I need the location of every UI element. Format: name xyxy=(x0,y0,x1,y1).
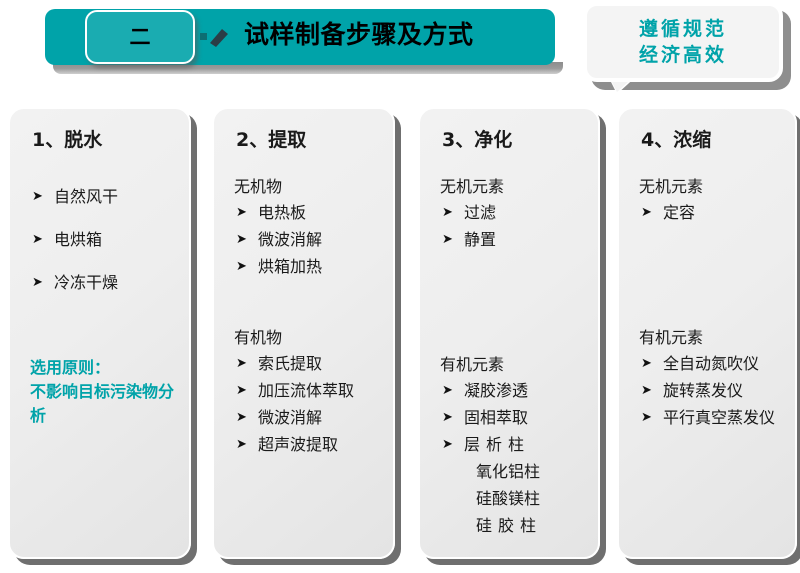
step-card-concentration[interactable]: 4、浓缩 无机元素 ➤定容 有机元素 ➤全自动氮吹仪 ➤旋转蒸发仪 ➤平行真空蒸… xyxy=(617,107,797,559)
item-list: ➤凝胶渗透 ➤固相萃取 ➤层析柱 氧化铝柱 硅酸镁柱 硅胶柱 xyxy=(440,377,588,539)
list-item[interactable]: ➤固相萃取 xyxy=(440,404,588,431)
group-heading: 有机元素 xyxy=(440,353,588,377)
section-number: 二 xyxy=(130,27,151,48)
selection-principle-note: 选用原则： 不影响目标污染物分 析 xyxy=(30,356,179,428)
card-group-inorganic: 无机元素 ➤过滤 ➤静置 xyxy=(440,175,588,253)
arrow-bullet-icon: ➤ xyxy=(236,431,247,458)
badge-line-1: 遵循规范 xyxy=(639,16,727,42)
group-heading: 有机元素 xyxy=(639,326,785,350)
card-group: ➤自然风干 ➤电烘箱 ➤冷冻干燥 xyxy=(30,183,179,296)
group-heading: 有机物 xyxy=(234,326,383,350)
page-title: 试样制备步骤及方式 xyxy=(244,18,544,52)
badge-body: 遵循规范 经济高效 xyxy=(583,2,783,82)
list-subitem-label: 氧化铝柱 xyxy=(476,462,540,481)
list-item[interactable]: ➤加压流体萃取 xyxy=(234,377,383,404)
arrow-bullet-icon: ➤ xyxy=(442,404,453,431)
step-card-dehydration[interactable]: 1、脱水 ➤自然风干 ➤电烘箱 ➤冷冻干燥 选用原则： 不影响目标污染物分 析 xyxy=(8,107,191,559)
list-subitem-label: 硅酸镁柱 xyxy=(476,489,540,508)
step-card-extraction[interactable]: 2、提取 无机物 ➤电热板 ➤微波消解 ➤烘箱加热 有机物 ➤索氏提取 ➤加压流… xyxy=(212,107,395,559)
note-line-1: 选用原则： xyxy=(30,356,179,380)
card-title: 3、净化 xyxy=(442,127,588,153)
list-item[interactable]: ➤旋转蒸发仪 xyxy=(639,377,785,404)
group-heading: 无机元素 xyxy=(440,175,588,199)
list-item-label: 凝胶渗透 xyxy=(464,381,528,400)
item-list: ➤全自动氮吹仪 ➤旋转蒸发仪 ➤平行真空蒸发仪 xyxy=(639,350,785,431)
item-list: ➤过滤 ➤静置 xyxy=(440,199,588,253)
slide-header: 二 试样制备步骤及方式 遵循规范 经济高效 xyxy=(0,0,800,96)
arrow-bullet-icon: ➤ xyxy=(236,199,247,226)
list-item[interactable]: ➤电热板 xyxy=(234,199,383,226)
list-subitem: 硅酸镁柱 xyxy=(440,485,588,512)
list-item[interactable]: ➤超声波提取 xyxy=(234,431,383,458)
card-title: 1、脱水 xyxy=(32,127,179,153)
list-item[interactable]: ➤全自动氮吹仪 xyxy=(639,350,785,377)
arrow-bullet-icon: ➤ xyxy=(442,199,453,226)
card-group-organic: 有机物 ➤索氏提取 ➤加压流体萃取 ➤微波消解 ➤超声波提取 xyxy=(234,326,383,458)
item-list: ➤索氏提取 ➤加压流体萃取 ➤微波消解 ➤超声波提取 xyxy=(234,350,383,458)
list-item-label: 电热板 xyxy=(258,203,306,222)
list-item[interactable]: ➤自然风干 xyxy=(30,183,179,210)
list-item[interactable]: ➤微波消解 xyxy=(234,226,383,253)
group-heading: 无机元素 xyxy=(639,175,785,199)
list-item[interactable]: ➤凝胶渗透 xyxy=(440,377,588,404)
section-number-box: 二 xyxy=(85,10,195,64)
arrow-bullet-icon: ➤ xyxy=(641,377,652,404)
card-title: 2、提取 xyxy=(236,127,383,153)
list-item-label: 层析柱 xyxy=(464,435,530,454)
arrow-bullet-icon: ➤ xyxy=(442,377,453,404)
list-item-label: 平行真空蒸发仪 xyxy=(663,408,775,427)
arrow-bullet-icon: ➤ xyxy=(236,350,247,377)
list-item-label: 旋转蒸发仪 xyxy=(663,381,743,400)
arrow-bullet-icon: ➤ xyxy=(442,431,459,458)
list-item-label: 超声波提取 xyxy=(258,435,338,454)
pencil-icon xyxy=(200,25,230,49)
card-group-organic: 有机元素 ➤全自动氮吹仪 ➤旋转蒸发仪 ➤平行真空蒸发仪 xyxy=(639,326,785,431)
list-item-label: 过滤 xyxy=(464,203,496,222)
list-item[interactable]: ➤层析柱 xyxy=(440,431,588,458)
item-list: ➤定容 xyxy=(639,199,785,226)
list-item-label: 定容 xyxy=(663,203,695,222)
arrow-bullet-icon: ➤ xyxy=(32,226,43,253)
list-item-label: 微波消解 xyxy=(258,230,322,249)
badge-line-2: 经济高效 xyxy=(639,42,727,68)
list-item[interactable]: ➤过滤 xyxy=(440,199,588,226)
steps-container: 1、脱水 ➤自然风干 ➤电烘箱 ➤冷冻干燥 选用原则： 不影响目标污染物分 析 … xyxy=(0,101,800,571)
group-heading: 无机物 xyxy=(234,175,383,199)
list-subitem: 硅胶柱 xyxy=(440,512,588,539)
item-list: ➤自然风干 ➤电烘箱 ➤冷冻干燥 xyxy=(30,183,179,296)
list-item-label: 微波消解 xyxy=(258,408,322,427)
arrow-bullet-icon: ➤ xyxy=(32,183,43,210)
card-title: 4、浓缩 xyxy=(641,127,785,153)
note-line-2: 不影响目标污染物分 xyxy=(30,380,179,404)
list-item-label: 自然风干 xyxy=(54,187,118,206)
list-item[interactable]: ➤电烘箱 xyxy=(30,226,179,253)
list-item[interactable]: ➤冷冻干燥 xyxy=(30,269,179,296)
list-item[interactable]: ➤索氏提取 xyxy=(234,350,383,377)
list-item-label: 索氏提取 xyxy=(258,354,322,373)
step-card-purification[interactable]: 3、净化 无机元素 ➤过滤 ➤静置 有机元素 ➤凝胶渗透 ➤固相萃取 ➤层析柱 … xyxy=(418,107,600,559)
list-item[interactable]: ➤定容 xyxy=(639,199,785,226)
list-item-label: 加压流体萃取 xyxy=(258,381,354,400)
item-list: ➤电热板 ➤微波消解 ➤烘箱加热 xyxy=(234,199,383,280)
arrow-bullet-icon: ➤ xyxy=(442,226,453,253)
list-subitem: 氧化铝柱 xyxy=(440,458,588,485)
arrow-bullet-icon: ➤ xyxy=(641,404,652,431)
list-item-label: 全自动氮吹仪 xyxy=(663,354,759,373)
arrow-bullet-icon: ➤ xyxy=(236,226,247,253)
arrow-bullet-icon: ➤ xyxy=(236,253,247,280)
list-item[interactable]: ➤微波消解 xyxy=(234,404,383,431)
list-item-label: 静置 xyxy=(464,230,496,249)
list-item[interactable]: ➤烘箱加热 xyxy=(234,253,383,280)
list-item[interactable]: ➤静置 xyxy=(440,226,588,253)
list-item-label: 固相萃取 xyxy=(464,408,528,427)
list-item-label: 电烘箱 xyxy=(54,230,102,249)
arrow-bullet-icon: ➤ xyxy=(236,377,247,404)
arrow-bullet-icon: ➤ xyxy=(236,404,247,431)
card-group-inorganic: 无机元素 ➤定容 xyxy=(639,175,785,226)
list-item-label: 冷冻干燥 xyxy=(54,273,118,292)
list-subitem-label: 硅胶柱 xyxy=(476,516,542,535)
list-item-label: 烘箱加热 xyxy=(258,257,322,276)
list-item[interactable]: ➤平行真空蒸发仪 xyxy=(639,404,785,431)
arrow-bullet-icon: ➤ xyxy=(641,199,652,226)
arrow-bullet-icon: ➤ xyxy=(32,269,43,296)
card-group-organic: 有机元素 ➤凝胶渗透 ➤固相萃取 ➤层析柱 氧化铝柱 硅酸镁柱 硅胶柱 xyxy=(440,353,588,539)
arrow-bullet-icon: ➤ xyxy=(641,350,652,377)
note-line-3: 析 xyxy=(30,404,179,428)
slogan-badge: 遵循规范 经济高效 xyxy=(583,2,795,94)
card-group-inorganic: 无机物 ➤电热板 ➤微波消解 ➤烘箱加热 xyxy=(234,175,383,280)
